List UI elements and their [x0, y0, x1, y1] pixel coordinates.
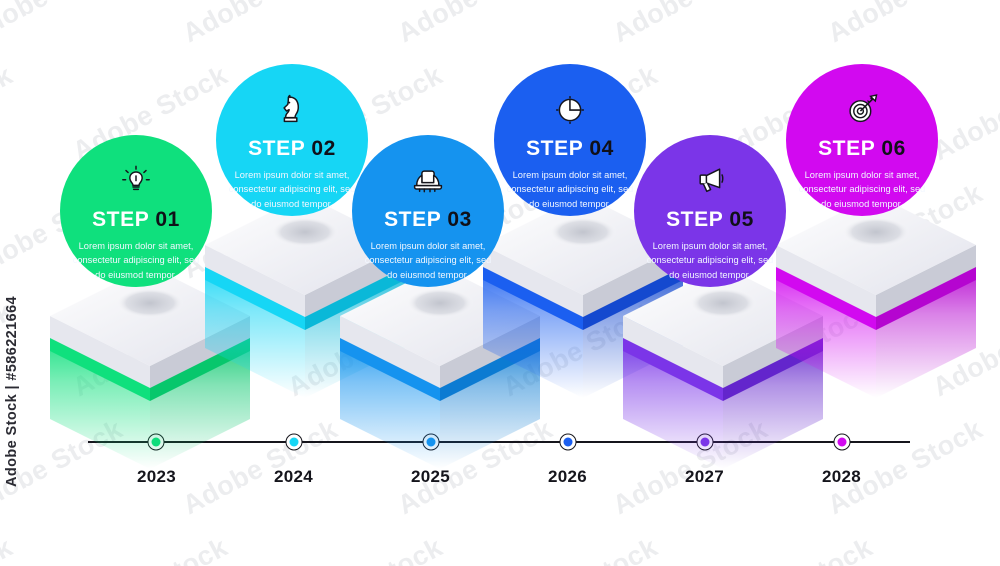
timeline-year-label-6: 2028	[822, 467, 861, 487]
timeline-dot	[563, 438, 572, 447]
infographic-canvas: Adobe StockAdobe StockAdobe StockAdobe S…	[0, 0, 1000, 566]
megaphone-icon	[691, 161, 729, 199]
isometric-platform-3	[335, 261, 545, 471]
watermark-tile: Adobe Stock	[0, 60, 18, 167]
step-description-5: Lorem ipsum dolor sit amet, consectetur …	[645, 239, 775, 282]
watermark-tile: Adobe Stock	[928, 296, 1000, 403]
step-title-1: STEP 01	[92, 209, 180, 230]
timeline-node-2[interactable]	[285, 434, 302, 451]
step-title-2: STEP 02	[248, 138, 336, 159]
timeline-node-1[interactable]	[148, 434, 165, 451]
step-number: 02	[311, 137, 336, 160]
watermark-tile: Adobe Stock	[713, 296, 878, 403]
chess-knight-icon	[273, 90, 311, 128]
step-title-word: STEP	[666, 208, 723, 231]
step-description-6: Lorem ipsum dolor sit amet, consectetur …	[797, 168, 927, 211]
step-number: 03	[447, 208, 472, 231]
target-arrow-icon	[843, 90, 881, 128]
step-description-4: Lorem ipsum dolor sit amet, consectetur …	[505, 168, 635, 211]
step-circle-1[interactable]: STEP 01 Lorem ipsum dolor sit amet, cons…	[60, 135, 212, 287]
timeline-dot	[700, 438, 709, 447]
watermark-tile: Adobe Stock	[823, 0, 988, 49]
timeline-node-4[interactable]	[559, 434, 576, 451]
timeline-year-label-1: 2023	[137, 467, 176, 487]
timeline-node-5[interactable]	[696, 434, 713, 451]
timeline-dot	[837, 438, 846, 447]
step-number: 04	[589, 137, 614, 160]
step-number: 05	[729, 208, 754, 231]
timeline-year-label-3: 2025	[411, 467, 450, 487]
timeline-dot	[426, 438, 435, 447]
step-circle-6[interactable]: STEP 06 Lorem ipsum dolor sit amet, cons…	[786, 64, 938, 216]
watermark-tile: Adobe Stock	[68, 532, 233, 566]
step-title-word: STEP	[92, 208, 149, 231]
timeline-node-3[interactable]	[422, 434, 439, 451]
watermark-tile: Adobe Stock	[928, 60, 1000, 167]
watermark-tile: Adobe Stock	[498, 532, 663, 566]
timeline-year-label-4: 2026	[548, 467, 587, 487]
step-circle-4[interactable]: STEP 04 Lorem ipsum dolor sit amet, cons…	[494, 64, 646, 216]
watermark-tile: Adobe Stock	[178, 414, 343, 521]
stock-watermark-label: Adobe Stock | #586221664	[4, 296, 20, 487]
watermark-tile: Adobe Stock	[498, 296, 663, 403]
watermark-tile: Adobe Stock	[283, 296, 448, 403]
timeline-axis: 202320242025202620272028	[88, 441, 910, 443]
watermark-tile: Adobe Stock	[68, 296, 233, 403]
step-title-3: STEP 03	[384, 209, 472, 230]
timeline-year-label-2: 2024	[274, 467, 313, 487]
watermark-tile: Adobe Stock	[178, 0, 343, 49]
step-title-6: STEP 06	[818, 138, 906, 159]
watermark-tile: Adobe Stock	[393, 0, 558, 49]
watermark-tile: Adobe Stock	[608, 0, 773, 49]
step-circle-5[interactable]: STEP 05 Lorem ipsum dolor sit amet, cons…	[634, 135, 786, 287]
step-circle-3[interactable]: STEP 03 Lorem ipsum dolor sit amet, cons…	[352, 135, 504, 287]
timeline-year-label-5: 2027	[685, 467, 724, 487]
watermark-tile: Adobe Stock	[928, 532, 1000, 566]
step-title-word: STEP	[248, 137, 305, 160]
timeline-node-6[interactable]	[833, 434, 850, 451]
step-description-2: Lorem ipsum dolor sit amet, consectetur …	[227, 168, 357, 211]
timeline-dot	[289, 438, 298, 447]
step-number: 06	[881, 137, 906, 160]
hard-hat-icon	[409, 161, 447, 199]
step-title-5: STEP 05	[666, 209, 754, 230]
step-title-word: STEP	[818, 137, 875, 160]
step-number: 01	[155, 208, 180, 231]
step-description-3: Lorem ipsum dolor sit amet, consectetur …	[363, 239, 493, 282]
timeline-dot	[152, 438, 161, 447]
watermark-tile: Adobe Stock	[0, 0, 128, 49]
step-title-word: STEP	[526, 137, 583, 160]
pie-chart-timer-icon	[551, 90, 589, 128]
step-circle-2[interactable]: STEP 02 Lorem ipsum dolor sit amet, cons…	[216, 64, 368, 216]
lightbulb-icon	[117, 161, 155, 199]
isometric-platform-5	[618, 261, 828, 471]
watermark-tile: Adobe Stock	[0, 532, 18, 566]
step-title-word: STEP	[384, 208, 441, 231]
watermark-tile: Adobe Stock	[713, 532, 878, 566]
watermark-tile: Adobe Stock	[283, 532, 448, 566]
isometric-platform-6	[771, 190, 981, 400]
step-title-4: STEP 04	[526, 138, 614, 159]
step-description-1: Lorem ipsum dolor sit amet, consectetur …	[71, 239, 201, 282]
